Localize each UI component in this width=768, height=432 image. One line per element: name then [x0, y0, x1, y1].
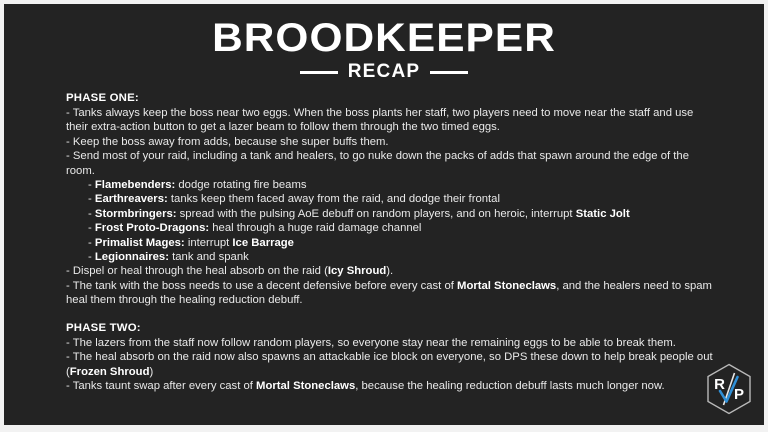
add-name: Legionnaires:	[95, 251, 169, 263]
add-text: spread with the pulsing AoE debuff on ra…	[177, 208, 576, 220]
phase-two-line: - The heal absorb on the raid now also s…	[66, 350, 718, 379]
rule-right-icon	[430, 71, 468, 74]
line-pre: - The lazers from the staff now follow r…	[66, 337, 676, 349]
subtitle-row: RECAP	[4, 62, 764, 82]
logo-letter-p: P	[734, 386, 744, 403]
line-post: , because the healing reduction debuff l…	[355, 380, 664, 392]
phase-two-heading: PHASE TWO:	[66, 321, 718, 336]
line-bold: Mortal Stoneclaws	[256, 380, 355, 392]
add-name: Earthreavers:	[95, 193, 168, 205]
closing-post: ).	[386, 265, 393, 277]
screenshot-canvas: BROODKEEPER RECAP PHASE ONE: - Tanks alw…	[0, 0, 768, 432]
add-name: Stormbringers:	[95, 208, 177, 220]
page-title: BROODKEEPER	[4, 17, 764, 59]
line-bold: Frozen Shroud	[70, 366, 150, 378]
add-text: dodge rotating fire beams	[175, 179, 306, 191]
phase-one-line: - Send most of your raid, including a ta…	[66, 149, 718, 178]
add-emphasis: Ice Barrage	[232, 237, 294, 249]
rule-left-icon	[300, 71, 338, 74]
add-name: Frost Proto-Dragons:	[95, 222, 209, 234]
add-text: heal through a huge raid damage channel	[209, 222, 421, 234]
closing-pre: - The tank with the boss needs to use a …	[66, 280, 457, 292]
phase-one-heading: PHASE ONE:	[66, 91, 718, 106]
closing-bold: Icy Shroud	[328, 265, 386, 277]
add-list-item: - Frost Proto-Dragons: heal through a hu…	[66, 221, 718, 235]
hexagon-logo-icon: R P	[706, 363, 752, 415]
add-name: Flamebenders:	[95, 179, 175, 191]
add-list-item: - Flamebenders: dodge rotating fire beam…	[66, 178, 718, 192]
add-list-item: - Earthreavers: tanks keep them faced aw…	[66, 192, 718, 206]
section-spacer	[66, 308, 718, 321]
title-block: BROODKEEPER RECAP	[4, 4, 764, 82]
recap-panel: BROODKEEPER RECAP PHASE ONE: - Tanks alw…	[4, 4, 764, 425]
brand-logo: R P	[706, 363, 752, 415]
add-text: tank and spank	[169, 251, 249, 263]
line-pre: - Tanks taunt swap after every cast of	[66, 380, 256, 392]
add-name: Primalist Mages:	[95, 237, 185, 249]
phase-two-line: - Tanks taunt swap after every cast of M…	[66, 379, 718, 393]
phase-one-closing-line: - The tank with the boss needs to use a …	[66, 279, 718, 308]
line-post: )	[149, 366, 153, 378]
add-list-item: - Legionnaires: tank and spank	[66, 250, 718, 264]
closing-bold: Mortal Stoneclaws	[457, 280, 556, 292]
phase-one-line: - Keep the boss away from adds, because …	[66, 135, 718, 149]
add-list-item: - Primalist Mages: interrupt Ice Barrage	[66, 236, 718, 250]
phase-one-closing-line: - Dispel or heal through the heal absorb…	[66, 264, 718, 278]
phase-one-line: - Tanks always keep the boss near two eg…	[66, 106, 718, 135]
add-emphasis: Static Jolt	[576, 208, 630, 220]
body-copy: PHASE ONE: - Tanks always keep the boss …	[4, 91, 764, 393]
line-pre: - The heal absorb on the raid now also s…	[66, 351, 713, 377]
page-subtitle: RECAP	[348, 62, 421, 82]
add-text: tanks keep them faced away from the raid…	[168, 193, 500, 205]
add-text: interrupt	[185, 237, 233, 249]
closing-pre: - Dispel or heal through the heal absorb…	[66, 265, 328, 277]
add-list-item: - Stormbringers: spread with the pulsing…	[66, 207, 718, 221]
phase-two-line: - The lazers from the staff now follow r…	[66, 336, 718, 350]
